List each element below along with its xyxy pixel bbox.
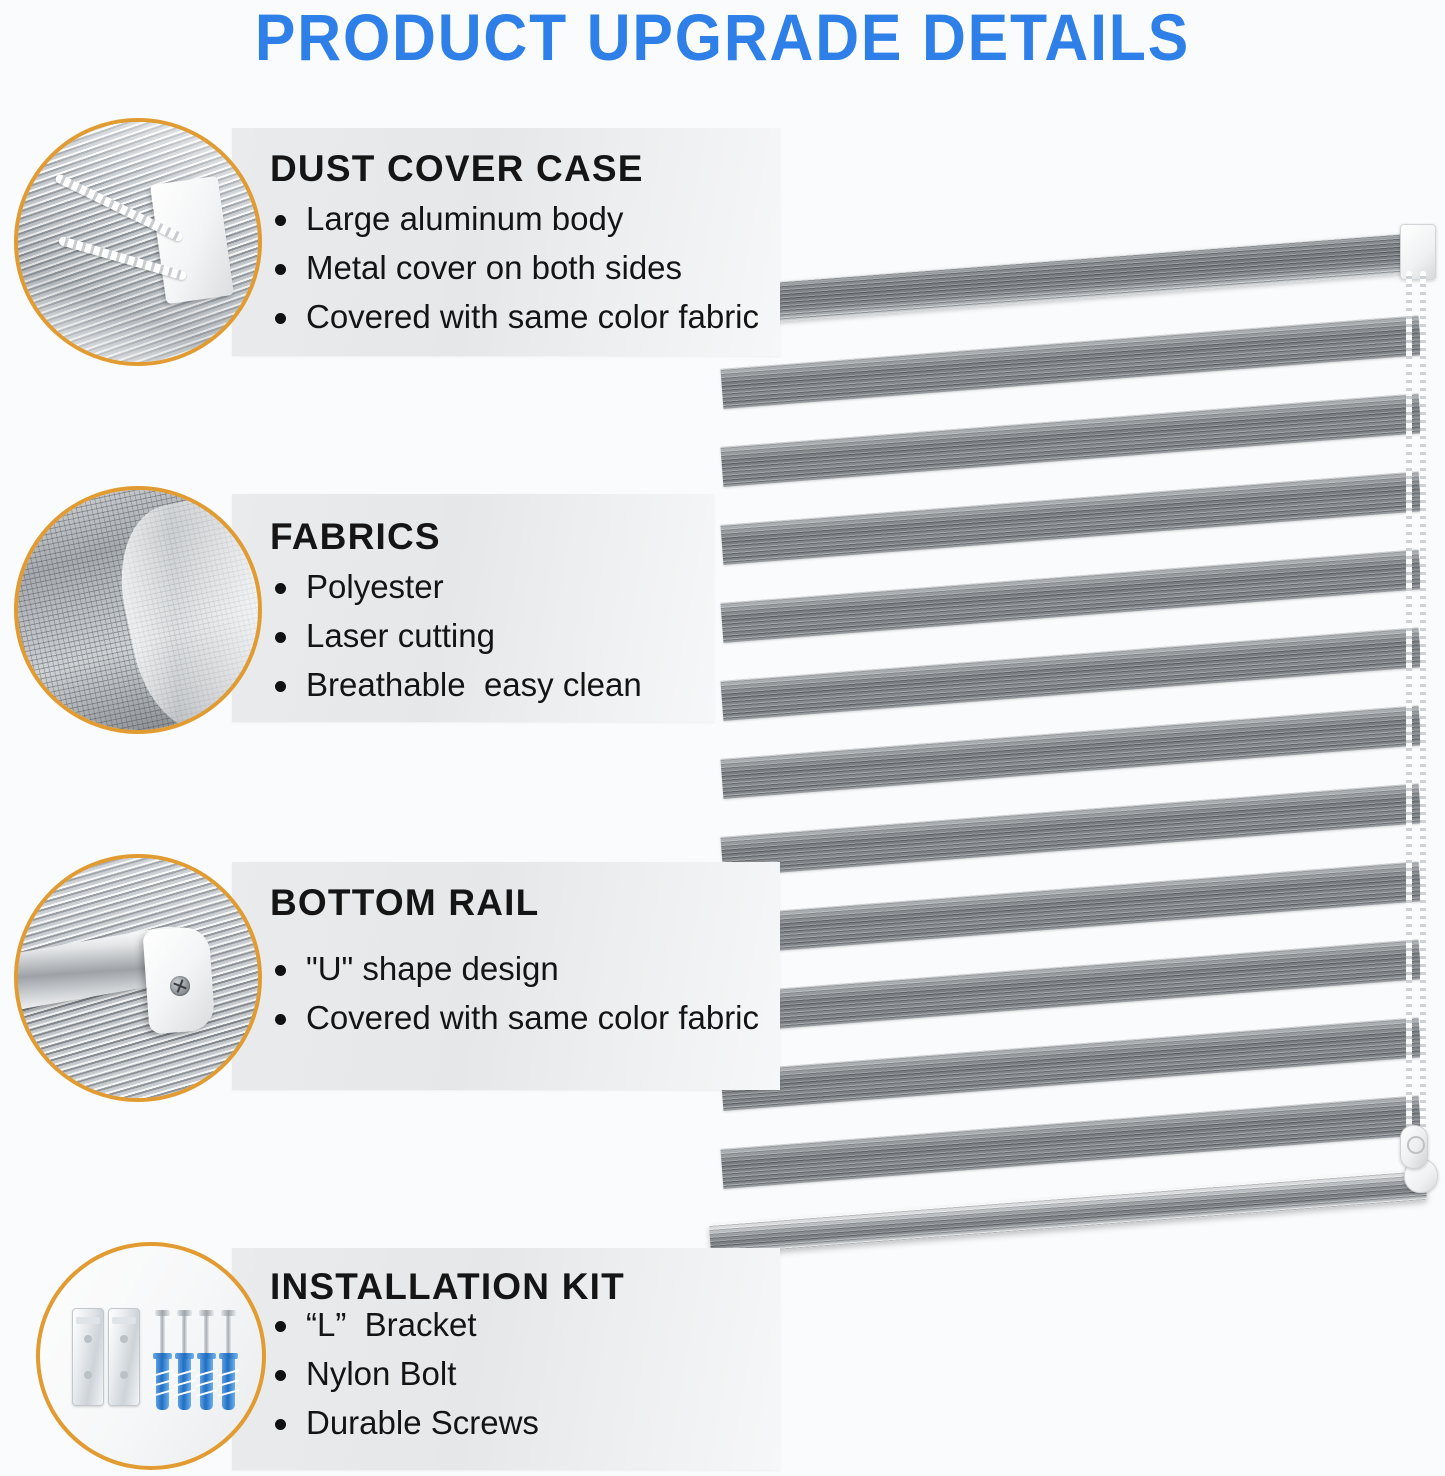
- chain-tensioner[interactable]: [1400, 1125, 1428, 1169]
- feature-heading-dust-cover-case: DUST COVER CASE: [270, 148, 644, 190]
- bullet-item: Laser cutting: [272, 611, 702, 660]
- fabric-slat: [720, 939, 1421, 1033]
- nylon-bolt-anchor: [178, 1356, 191, 1410]
- bead-chain[interactable]: [1406, 271, 1412, 1161]
- fabric-slat: [720, 315, 1421, 409]
- feature-bullets-dust-cover-case: Large aluminum body Metal cover on both …: [272, 194, 772, 341]
- nylon-bolt-anchor: [156, 1356, 169, 1410]
- bottom-rail: [709, 1170, 1427, 1255]
- fabric-slat: [720, 471, 1421, 565]
- bullet-item: “L” Bracket: [272, 1300, 772, 1349]
- feature-photo-bottom-rail: [14, 854, 262, 1102]
- bead-chain-return[interactable]: [1420, 271, 1426, 1151]
- fabric-slat: [720, 393, 1421, 487]
- bullet-item: Polyester: [272, 562, 702, 611]
- page-title: PRODUCT UPGRADE DETAILS: [58, 0, 1387, 78]
- fabric-slat: [720, 549, 1421, 643]
- bullet-item: Durable Screws: [272, 1398, 772, 1447]
- product-upgrade-infographic: PRODUCT UPGRADE DETAILS: [0, 0, 1445, 1476]
- feature-photo-fabrics: [14, 486, 262, 734]
- nylon-bolt-anchor: [222, 1356, 235, 1410]
- bullet-item: Metal cover on both sides: [272, 243, 772, 292]
- installation-kit-parts: [72, 1304, 242, 1414]
- feature-photo-installation-kit: [36, 1242, 266, 1470]
- fabric-slat: [720, 705, 1421, 799]
- fabric-slat: [720, 627, 1421, 721]
- product-blind-image: [700, 225, 1445, 1245]
- feature-bullets-bottom-rail: "U" shape design Covered with same color…: [272, 944, 772, 1042]
- feature-bullets-fabrics: Polyester Laser cutting Breathable easy …: [272, 562, 702, 709]
- fabric-slat: [720, 1095, 1421, 1189]
- bullet-item: Breathable easy clean: [272, 660, 702, 709]
- fabric-slat: [720, 783, 1421, 877]
- bullet-item: Covered with same color fabric: [272, 993, 772, 1042]
- rail-screw: [170, 976, 190, 996]
- headrail-dust-cover: [706, 232, 1419, 327]
- l-bracket: [108, 1308, 140, 1406]
- feature-heading-fabrics: FABRICS: [270, 516, 441, 558]
- fabric-slat: [720, 861, 1421, 955]
- bullet-item: Large aluminum body: [272, 194, 772, 243]
- bullet-item: Covered with same color fabric: [272, 292, 772, 341]
- feature-bullets-installation-kit: “L” Bracket Nylon Bolt Durable Screws: [272, 1300, 772, 1447]
- bullet-item: Nylon Bolt: [272, 1349, 772, 1398]
- l-bracket: [72, 1308, 104, 1406]
- bullet-item: "U" shape design: [272, 944, 772, 993]
- feature-heading-bottom-rail: BOTTOM RAIL: [270, 882, 539, 924]
- feature-photo-dust-cover-case: [14, 118, 262, 366]
- fabric-slat: [720, 1017, 1421, 1111]
- nylon-bolt-anchor: [200, 1356, 213, 1410]
